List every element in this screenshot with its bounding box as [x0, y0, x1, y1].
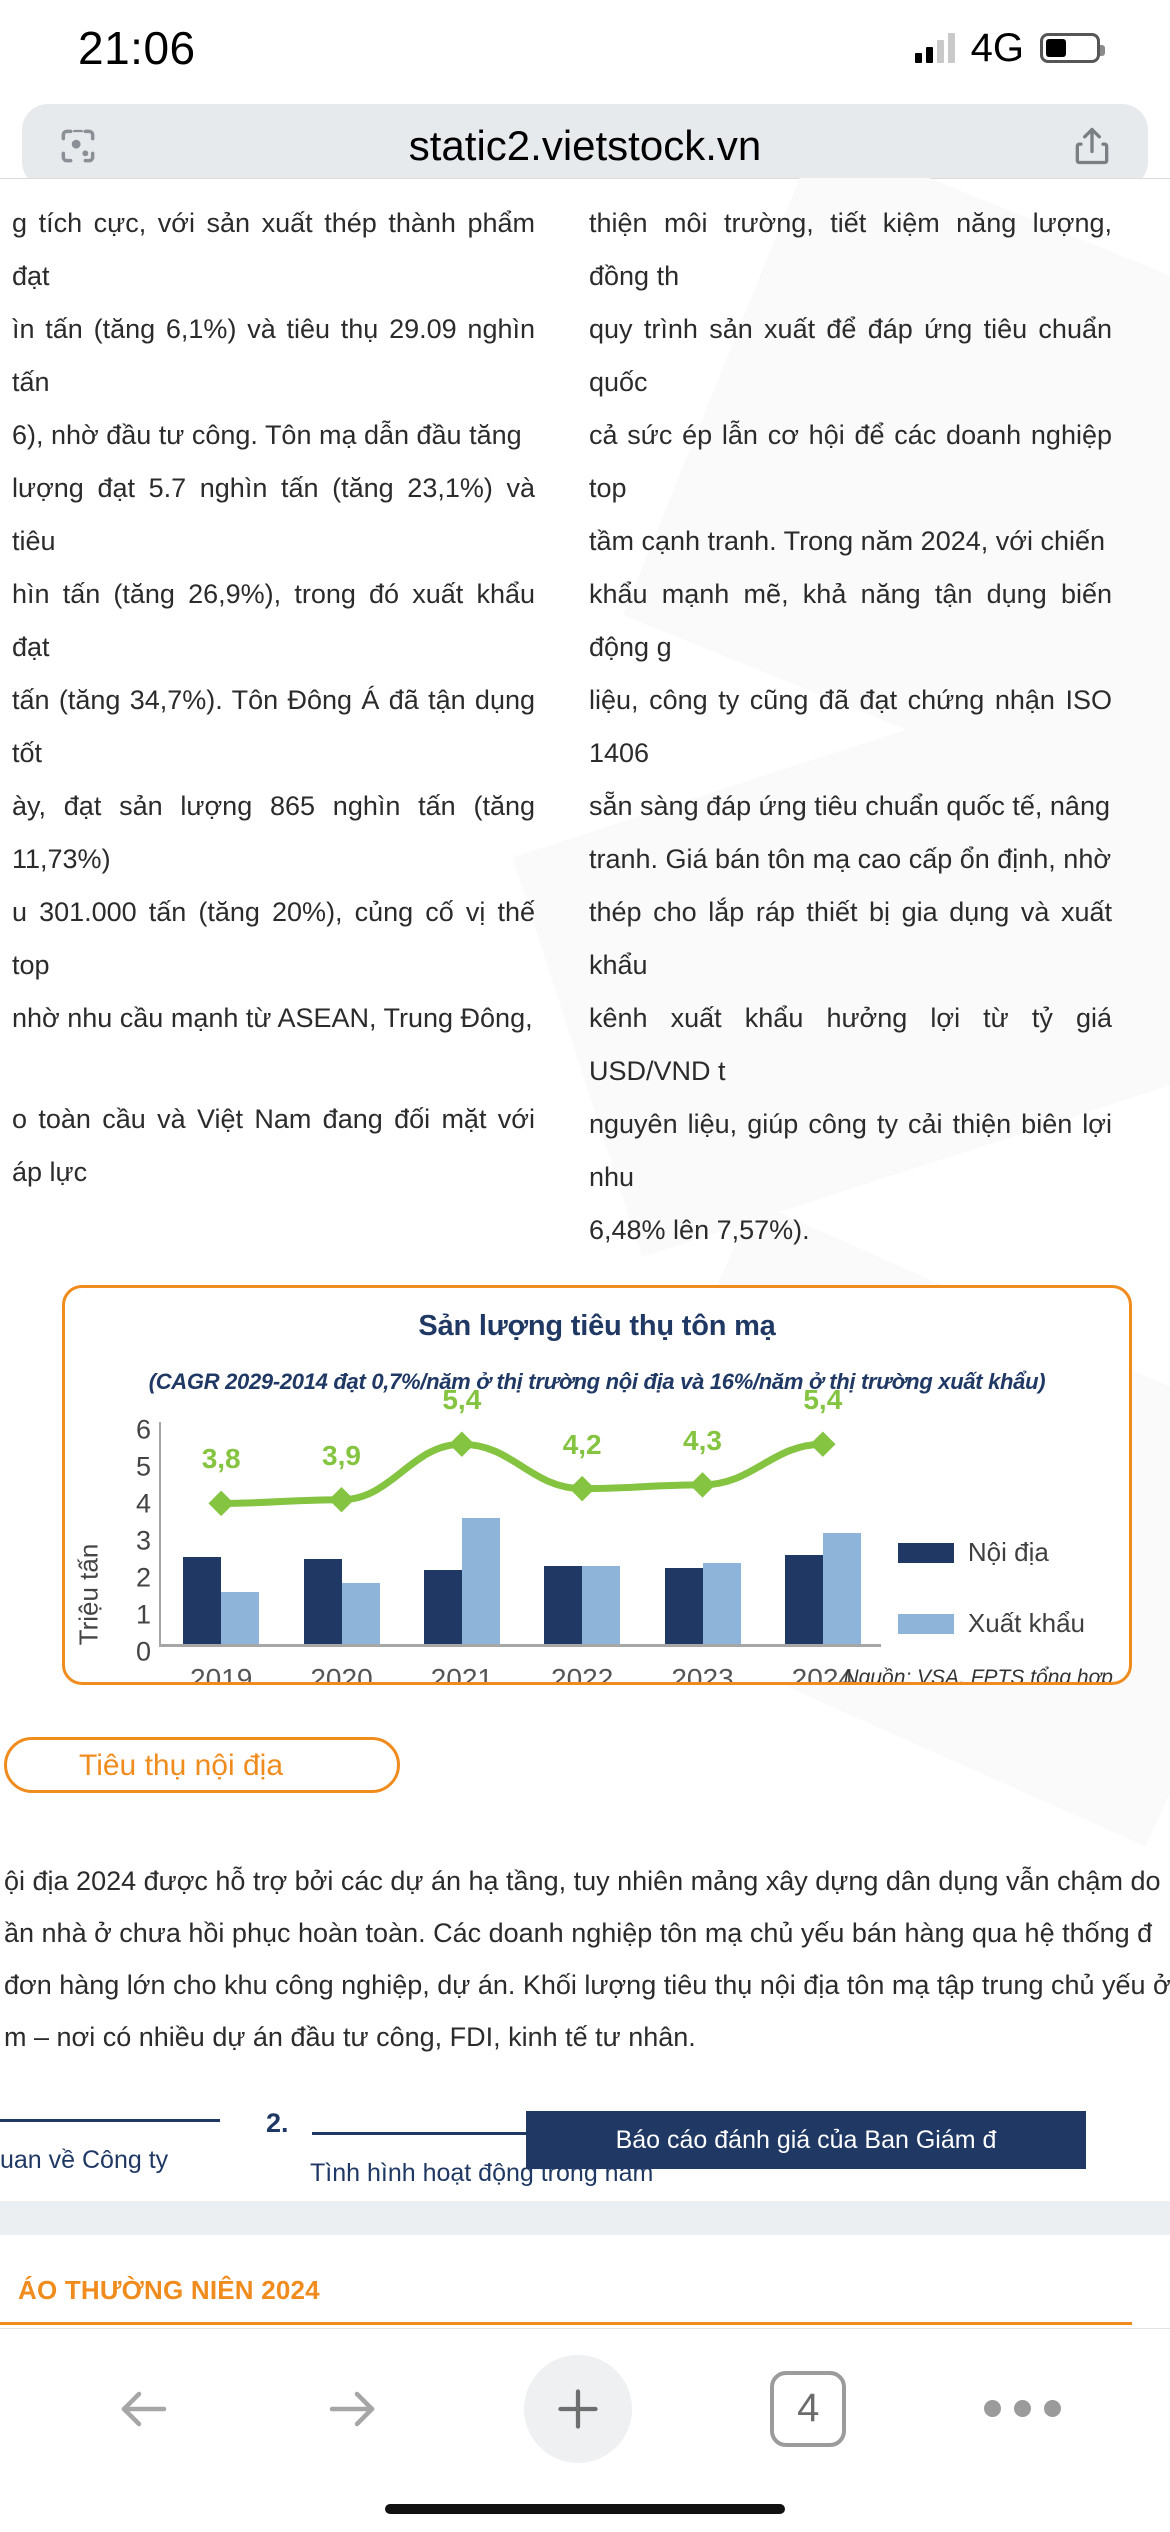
chart-line-marker [449, 1431, 474, 1456]
chart-y-axis-label: Triệu tấn [63, 1544, 116, 1646]
chart-data-label: 5,4 [442, 1373, 481, 1426]
chart-bar-noi-dia [785, 1555, 823, 1644]
chart-bar-xuat-khau [221, 1592, 259, 1644]
paragraph-line: o toàn cầu và Việt Nam đang đối mặt với … [12, 1093, 535, 1199]
chart-x-tick: 2021 [431, 1652, 493, 1685]
document-column-left: g tích cực, với sản xuất thép thành phẩm… [12, 197, 535, 1257]
section-heading-label: Tiêu thụ nội địa [79, 1739, 283, 1792]
chart-series-area: 3,83,95,44,24,35,4 [161, 1422, 883, 1644]
paragraph-line: nhờ nhu cầu mạnh từ ASEAN, Trung Đông, [12, 992, 535, 1045]
page-separator [0, 2201, 1170, 2235]
chart-line-marker [329, 1487, 354, 1512]
paragraph-line: cả sức ép lẫn cơ hội để các doanh nghiệp… [589, 409, 1112, 515]
address-bar[interactable]: static2.vietstock.vn [22, 104, 1148, 188]
chart-bar-group [183, 1557, 259, 1644]
arrow-right-icon[interactable] [317, 2379, 387, 2439]
chart-x-tick: 2022 [551, 1652, 613, 1685]
document-column-right: thiện môi trường, tiết kiệm năng lượng, … [589, 197, 1112, 1257]
paragraph-line: kênh xuất khẩu hưởng lợi từ tỷ giá USD/V… [589, 992, 1112, 1098]
paragraph-line: thép cho lắp ráp thiết bị gia dụng và xu… [589, 886, 1112, 992]
chart-bar-group [304, 1559, 380, 1644]
more-dots-icon[interactable] [984, 2400, 1061, 2417]
chart-bar-xuat-khau [823, 1533, 861, 1644]
arrow-left-icon[interactable] [109, 2379, 179, 2439]
paragraph-line: tranh. Giá bán tôn mạ cao cấp ổn định, n… [589, 833, 1112, 886]
paragraph-line: liệu, công ty cũng đã đạt chứng nhận ISO… [589, 674, 1112, 780]
paragraph-line: 6), nhờ đầu tư công. Tôn mạ dẫn đầu tăng [12, 409, 535, 462]
chart-bar-group [424, 1518, 500, 1644]
document-footer-nav: uan về Công ty 2. Tình hình hoạt động tr… [58, 2097, 1112, 2167]
section-heading-tieu-thu-noi-dia: Tiêu thụ nội địa [4, 1737, 400, 1793]
chart-x-tick: 2020 [310, 1652, 372, 1685]
chart-x-tick-labels: 201920202021202220232024 [161, 1652, 883, 1685]
chart-y-tick: 0 [136, 1639, 151, 1666]
chart-consumption-tonma: Sản lượng tiêu thụ tôn mạ (CAGR 2029-201… [62, 1285, 1132, 1685]
chart-y-tick: 5 [136, 1454, 151, 1481]
url-text[interactable]: static2.vietstock.vn [106, 122, 1064, 170]
chart-bar-noi-dia [665, 1568, 703, 1644]
chart-data-label: 3,8 [202, 1432, 241, 1485]
chart-data-label: 5,4 [803, 1373, 842, 1426]
chart-bar-xuat-khau [342, 1583, 380, 1644]
paragraph-line: g tích cực, với sản xuất thép thành phẩm… [12, 197, 535, 303]
paragraph-line: lượng đạt 5.7 nghìn tấn (tăng 23,1%) và … [12, 462, 535, 568]
chart-y-ticks: 0123456 [111, 1426, 151, 1638]
browser-toolbar: 4 [0, 2328, 1170, 2532]
chart-bar-xuat-khau [703, 1563, 741, 1644]
home-indicator [385, 2504, 785, 2514]
legend-swatch-noi-dia [898, 1543, 954, 1563]
paragraph-line: đơn hàng lớn cho khu công nghiệp, dự án.… [4, 1959, 1170, 2011]
status-bar: 21:06 4G [0, 0, 1170, 96]
paragraph-line: u 301.000 tấn (tăng 20%), củng cố vị thế… [12, 886, 535, 992]
paragraph-line: ày, đạt sản lượng 865 nghìn tấn (tăng 11… [12, 780, 535, 886]
chart-bar-group [544, 1566, 620, 1644]
chart-data-label: 3,9 [322, 1429, 361, 1482]
paragraph-line: ìn tấn (tăng 6,1%) và tiêu thụ 29.09 ngh… [12, 303, 535, 409]
annual-report-document: g tích cực, với sản xuất thép thành phẩm… [0, 179, 1170, 2167]
chart-bar-group [785, 1533, 861, 1644]
paragraph-line: quy trình sản xuất để đáp ứng tiêu chuẩn… [589, 303, 1112, 409]
chart-line-marker [690, 1472, 715, 1497]
chart-bar-noi-dia [424, 1570, 462, 1644]
paragraph-line: ần nhà ở chưa hồi phục hoàn toàn. Các do… [4, 1907, 1170, 1959]
chart-line-marker [569, 1476, 594, 1501]
paragraph-line: thiện môi trường, tiết kiệm năng lượng, … [589, 197, 1112, 303]
paragraph-line: tầm cạnh tranh. Trong năm 2024, với chiế… [589, 515, 1112, 568]
page2-header-rule [0, 2322, 1132, 2325]
chart-x-tick: 2023 [671, 1652, 733, 1685]
chart-bar-xuat-khau [462, 1518, 500, 1644]
paragraph-line: hìn tấn (tăng 26,9%), trong đó xuất khẩu… [12, 568, 535, 674]
chart-bar-xuat-khau [582, 1566, 620, 1644]
chart-subtitle: (CAGR 2029-2014 đạt 0,7%/năm ở thị trườn… [65, 1353, 1129, 1408]
chart-x-axis-line [159, 1644, 881, 1647]
chart-y-tick: 4 [136, 1491, 151, 1518]
legend-swatch-xuat-khau [898, 1614, 954, 1634]
page2-running-header: ÁO THƯỜNG NIÊN 2024 [18, 2275, 1112, 2306]
status-clock: 21:06 [78, 21, 196, 75]
chart-title: Sản lượng tiêu thụ tôn mạ [65, 1288, 1129, 1353]
chart-source-note: Nguồn: VSA, FPTS tổng hợp [843, 1651, 1113, 1685]
chart-y-tick: 2 [136, 1565, 151, 1592]
legend-label: Xuất khẩu [968, 1597, 1085, 1650]
chart-line-marker [810, 1431, 835, 1456]
footer-nav-label: Báo cáo đánh giá của Ban Giám đ [616, 2114, 997, 2167]
legend-label: Nội địa [968, 1526, 1049, 1579]
chart-bar-noi-dia [304, 1559, 342, 1644]
signal-bars-icon [915, 33, 955, 63]
battery-icon [1040, 33, 1100, 63]
paragraph-line: khẩu mạnh mẽ, khả năng tận dụng biến độn… [589, 568, 1112, 674]
status-indicators: 4G [915, 26, 1100, 71]
share-icon[interactable] [1064, 118, 1120, 174]
document-columns: g tích cực, với sản xuất thép thành phẩm… [58, 179, 1112, 1257]
paragraph-line: ội địa 2024 được hỗ trợ bởi các dự án hạ… [4, 1855, 1170, 1907]
footer-nav-item-1[interactable]: uan về Công ty [0, 2097, 250, 2187]
chart-data-label: 4,2 [563, 1418, 602, 1471]
body-paragraph: ội địa 2024 được hỗ trợ bởi các dự án hạ… [4, 1855, 1170, 2063]
legend-item-noi-dia: Nội địa [898, 1526, 1085, 1579]
chart-x-tick: 2019 [190, 1652, 252, 1685]
chart-y-tick: 6 [136, 1417, 151, 1444]
chart-line-marker [208, 1491, 233, 1516]
chart-y-tick: 1 [136, 1602, 151, 1629]
network-type-label: 4G [971, 26, 1024, 71]
tab-count-label: 4 [797, 2386, 819, 2431]
legend-swatch-tong [898, 1685, 954, 1686]
paragraph-line: 6,48% lên 7,57%). [589, 1204, 1112, 1257]
paragraph-line: nguyên liệu, giúp công ty cải thiện biên… [589, 1098, 1112, 1204]
legend-item-xuat-khau: Xuất khẩu [898, 1597, 1085, 1650]
footer-nav-item-3-active[interactable]: Báo cáo đánh giá của Ban Giám đ [526, 2111, 1086, 2169]
paragraph-line: m – nơi có nhiều dự án đầu tư công, FDI,… [4, 2011, 1170, 2063]
plus-icon[interactable] [524, 2355, 632, 2463]
chart-bar-noi-dia [544, 1566, 582, 1644]
footer-nav-label: uan về Công ty [0, 2134, 250, 2187]
chart-bar-group [665, 1563, 741, 1644]
chart-y-tick: 3 [136, 1528, 151, 1555]
camera-scan-icon[interactable] [50, 118, 106, 174]
chart-line-total [161, 1422, 883, 1644]
paragraph-line: tấn (tăng 34,7%). Tôn Đông Á đã tận dụng… [12, 674, 535, 780]
web-page-viewport[interactable]: g tích cực, với sản xuất thép thành phẩm… [0, 178, 1170, 2428]
chart-data-label: 4,3 [683, 1414, 722, 1467]
chart-plot-area: Triệu tấn 0123456 3,83,95,44,24,35,4 201… [65, 1408, 1129, 1685]
paragraph-line: sẵn sàng đáp ứng tiêu chuẩn quốc tế, nân… [589, 780, 1112, 833]
tab-count-button[interactable]: 4 [770, 2371, 846, 2447]
chart-bar-noi-dia [183, 1557, 221, 1644]
